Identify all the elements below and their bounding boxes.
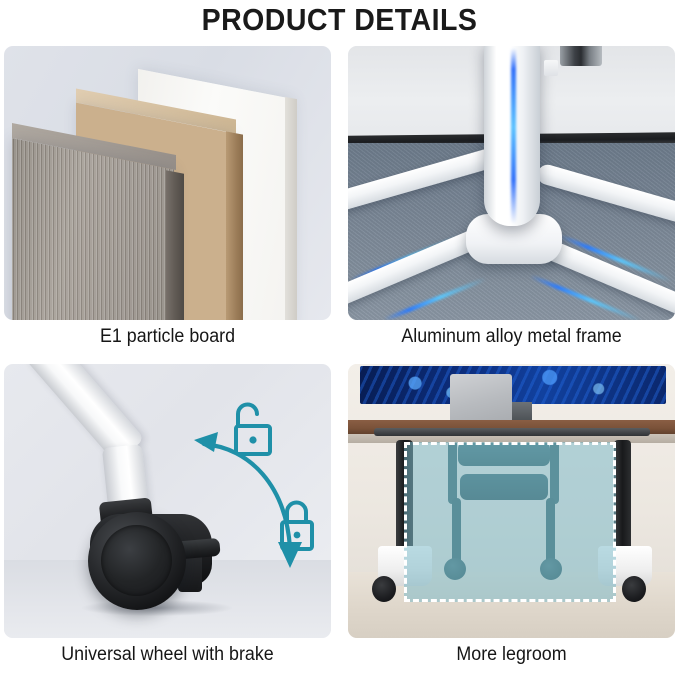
- desk-leg-right: [614, 440, 631, 550]
- grey-board-edge: [166, 170, 184, 320]
- caption-metal-frame: Aluminum alloy metal frame: [358, 322, 665, 352]
- legroom-highlight-area: [404, 442, 616, 602]
- detail-cell-universal-wheel: Universal wheel with brake: [4, 364, 331, 638]
- oak-board-edge: [226, 131, 243, 320]
- frame-bracket: [544, 60, 558, 76]
- unlock-icon: [236, 405, 270, 455]
- detail-cell-particle-board: E1 particle board: [4, 46, 331, 320]
- column-blue-reflection: [511, 48, 516, 224]
- arrow-head-up: [194, 432, 218, 452]
- desk-support-beam: [374, 428, 650, 436]
- details-grid: E1 particle board: [4, 46, 675, 666]
- more-legroom-image: [348, 364, 675, 638]
- product-details-infographic: PRODUCT DETAILS E1 particle board: [0, 0, 679, 673]
- desk-caster-right: [622, 576, 646, 602]
- detail-cell-metal-frame: Aluminum alloy metal frame: [348, 46, 675, 320]
- curved-double-arrow-icon: [204, 444, 290, 548]
- detail-cell-more-legroom: More legroom: [348, 364, 675, 638]
- laptop: [450, 374, 512, 422]
- white-board-edge: [285, 97, 297, 320]
- particle-board-image: [4, 46, 331, 320]
- grey-board: [12, 138, 174, 320]
- desk-caster-left: [372, 576, 396, 602]
- frame-clamp: [560, 46, 602, 66]
- universal-wheel-image: [4, 364, 331, 638]
- ultrawide-monitor: [360, 366, 666, 404]
- caster-wheel-hubcap: [101, 525, 172, 596]
- lock-indicator-group: [190, 400, 320, 580]
- page-title: PRODUCT DETAILS: [27, 2, 652, 38]
- caption-particle-board: E1 particle board: [14, 322, 321, 352]
- caption-more-legroom: More legroom: [358, 640, 665, 670]
- caption-universal-wheel: Universal wheel with brake: [14, 640, 321, 670]
- metal-frame-image: [348, 46, 675, 320]
